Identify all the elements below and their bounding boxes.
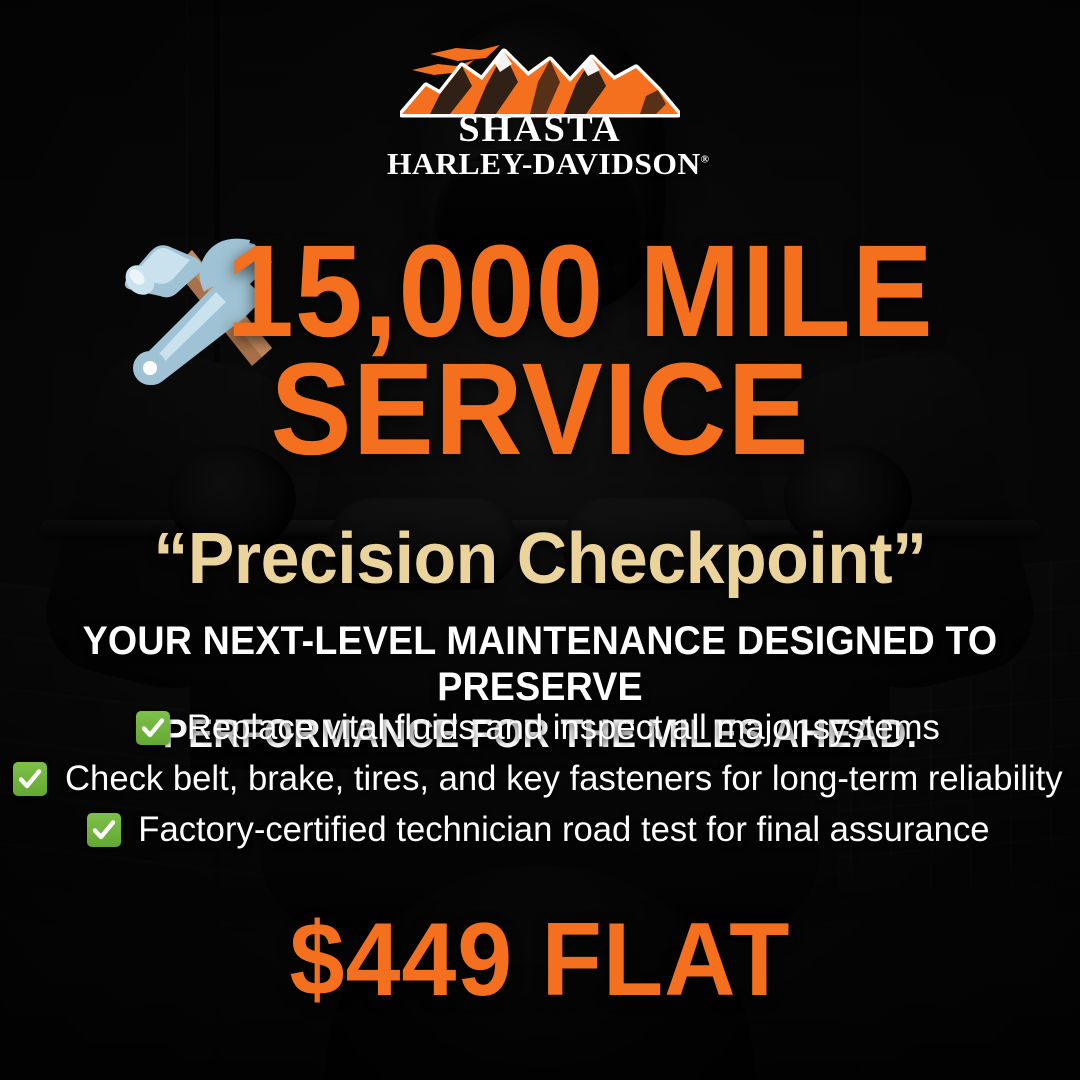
price-label: $449 FLAT xyxy=(27,901,1053,1020)
list-item-label: Factory-certified technician road test f… xyxy=(138,810,989,850)
logo-hd-label: HARLEY-DAVIDSON xyxy=(387,146,701,181)
logo-harley-davidson-text: HARLEY-DAVIDSON® xyxy=(387,148,693,179)
check-mark-button-icon xyxy=(87,813,121,847)
list-item-label: Replace vital fluids and inspect all maj… xyxy=(187,708,940,748)
logo-shasta-text: SHASTA xyxy=(384,112,696,147)
check-mark-button-icon xyxy=(13,762,47,796)
promo-poster: SHASTA HARLEY-DAVIDSON® xyxy=(0,0,1080,1080)
description-line-1: YOUR NEXT-LEVEL MAINTENANCE DESIGNED TO … xyxy=(32,618,1047,711)
headline: 15,000 MILE SERVICE xyxy=(38,232,1042,468)
headline-line-2: SERVICE xyxy=(38,350,1042,468)
list-item: Replace vital fluids and inspect all maj… xyxy=(136,708,944,748)
registered-mark: ® xyxy=(701,154,710,166)
poster-content: SHASTA HARLEY-DAVIDSON® xyxy=(0,0,1080,1080)
subtitle: “Precision Checkpoint” xyxy=(16,518,1064,600)
check-mark-button-icon xyxy=(136,711,170,745)
list-item: Check belt, brake, tires, and key fasten… xyxy=(13,759,1068,799)
list-item-label: Check belt, brake, tires, and key fasten… xyxy=(65,759,1063,799)
brand-logo: SHASTA HARLEY-DAVIDSON® xyxy=(390,42,690,179)
list-item: Factory-certified technician road test f… xyxy=(87,810,994,850)
headline-line-1: 15,000 MILE xyxy=(38,232,1042,350)
feature-list: Replace vital fluids and inspect all maj… xyxy=(0,708,1080,850)
